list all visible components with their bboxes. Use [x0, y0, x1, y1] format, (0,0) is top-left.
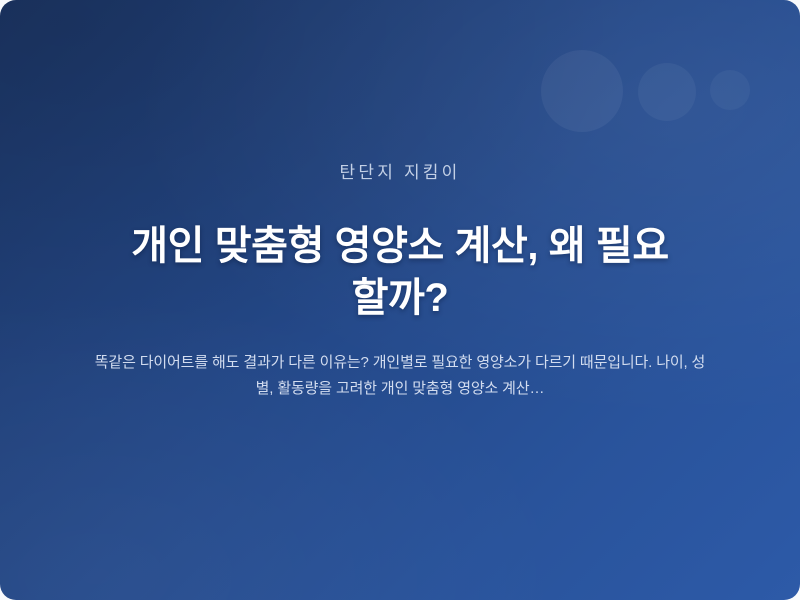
- hero-card: 탄단지 지킴이 개인 맞춤형 영양소 계산, 왜 필요할까? 똑같은 다이어트를…: [0, 0, 800, 600]
- brand-eyebrow: 탄단지 지킴이: [340, 162, 461, 184]
- hero-content: 탄단지 지킴이 개인 맞춤형 영양소 계산, 왜 필요할까? 똑같은 다이어트를…: [0, 0, 800, 600]
- hero-description: 똑같은 다이어트를 해도 결과가 다른 이유는? 개인별로 필요한 영양소가 다…: [91, 350, 709, 402]
- page-stage: 탄단지 지킴이 개인 맞춤형 영양소 계산, 왜 필요할까? 똑같은 다이어트를…: [0, 0, 800, 600]
- hero-headline: 개인 맞춤형 영양소 계산, 왜 필요할까?: [120, 220, 680, 324]
